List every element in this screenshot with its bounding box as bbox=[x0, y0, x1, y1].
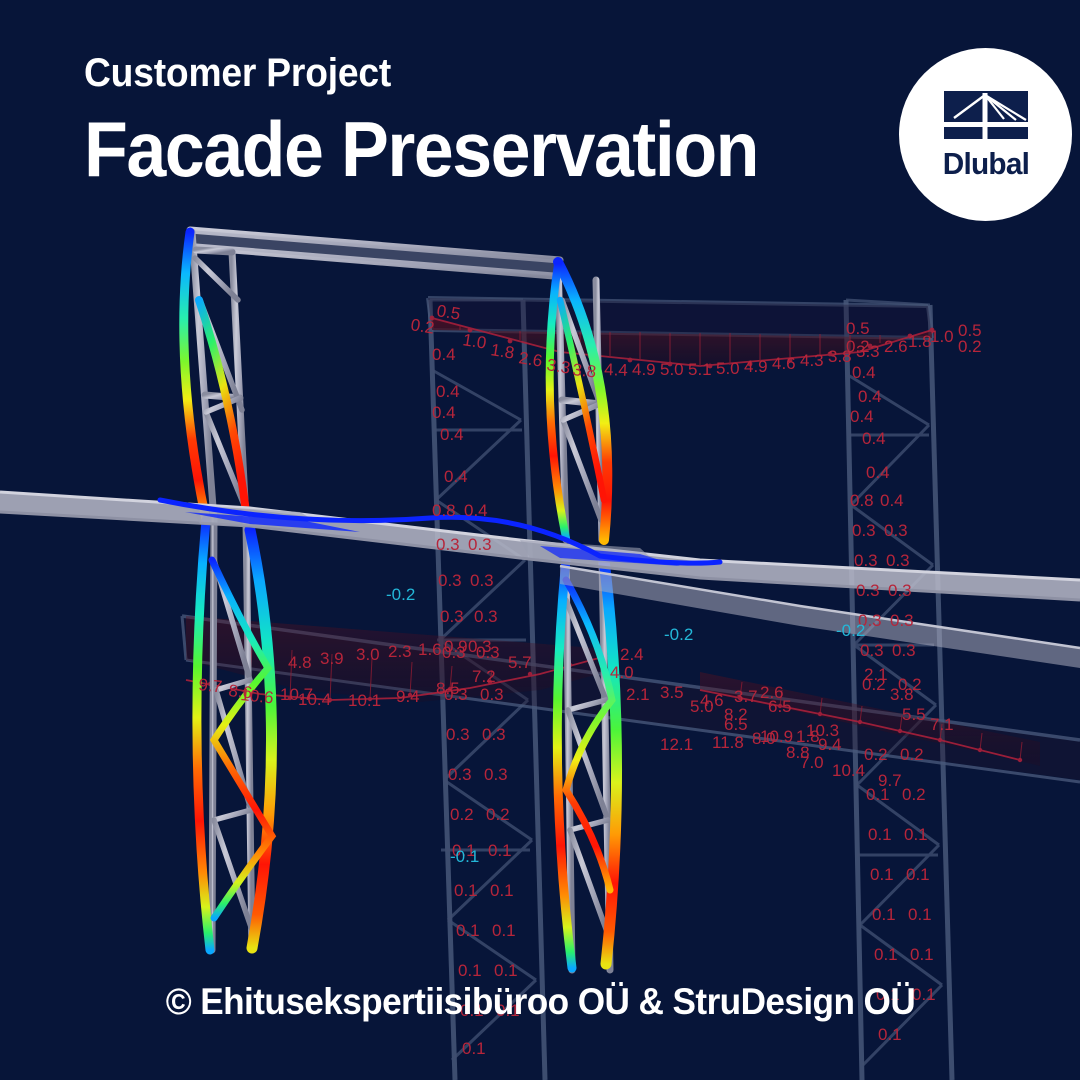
svg-text:7.0: 7.0 bbox=[800, 753, 824, 772]
svg-text:0.8: 0.8 bbox=[850, 491, 874, 510]
svg-text:0.3: 0.3 bbox=[884, 521, 908, 540]
svg-text:0.3: 0.3 bbox=[888, 581, 912, 600]
svg-text:0.2: 0.2 bbox=[864, 745, 888, 764]
svg-text:9.7: 9.7 bbox=[198, 675, 223, 696]
svg-text:-0.2: -0.2 bbox=[386, 585, 415, 604]
svg-text:2.1: 2.1 bbox=[864, 665, 888, 684]
svg-text:5.1: 5.1 bbox=[688, 360, 712, 379]
svg-text:9.4: 9.4 bbox=[396, 687, 420, 706]
svg-text:0.4: 0.4 bbox=[850, 407, 874, 426]
svg-text:1.0: 1.0 bbox=[930, 327, 954, 346]
svg-text:0.2: 0.2 bbox=[900, 745, 924, 764]
dlubal-logo-badge[interactable]: Dlubal bbox=[899, 48, 1072, 221]
svg-text:0.3: 0.3 bbox=[474, 607, 498, 626]
svg-text:0.1: 0.1 bbox=[492, 921, 516, 940]
poster-canvas: 0.5 0.2 1.0 1.8 2.6 3.3 3.8 4.4 4.9 5.0 … bbox=[0, 0, 1080, 1080]
svg-text:1.8: 1.8 bbox=[489, 340, 515, 362]
bridge-truss-icon bbox=[944, 91, 1028, 143]
svg-text:1.8: 1.8 bbox=[908, 332, 932, 351]
svg-text:7.2: 7.2 bbox=[472, 667, 496, 686]
svg-text:4.6: 4.6 bbox=[700, 691, 724, 710]
svg-text:0.4: 0.4 bbox=[880, 491, 904, 510]
svg-text:1.6: 1.6 bbox=[418, 640, 442, 659]
svg-text:-0.1: -0.1 bbox=[450, 847, 479, 866]
svg-text:0.3: 0.3 bbox=[440, 607, 464, 626]
svg-text:4.0: 4.0 bbox=[610, 663, 634, 682]
svg-text:0.1: 0.1 bbox=[878, 1025, 902, 1044]
svg-text:0.3: 0.3 bbox=[448, 765, 472, 784]
svg-text:0.1: 0.1 bbox=[874, 945, 898, 964]
svg-text:0.1: 0.1 bbox=[490, 881, 514, 900]
svg-text:2.6: 2.6 bbox=[517, 348, 543, 370]
svg-text:10.4: 10.4 bbox=[298, 690, 331, 709]
svg-text:4.4: 4.4 bbox=[604, 360, 628, 380]
svg-text:0.1: 0.1 bbox=[454, 881, 478, 900]
kicker-text: Customer Project bbox=[84, 53, 391, 93]
svg-text:0.9: 0.9 bbox=[444, 637, 468, 656]
svg-text:0.4: 0.4 bbox=[432, 403, 456, 422]
svg-text:10.9: 10.9 bbox=[760, 727, 793, 746]
svg-text:5.0: 5.0 bbox=[660, 360, 684, 379]
svg-text:0.1: 0.1 bbox=[908, 905, 932, 924]
svg-text:2.4: 2.4 bbox=[620, 645, 644, 664]
svg-text:0.3: 0.3 bbox=[852, 521, 876, 540]
svg-text:0.4: 0.4 bbox=[852, 363, 876, 382]
credit-line: © Ehitusekspertiisibüroo OÜ & StruDesign… bbox=[0, 983, 1080, 1020]
svg-text:0.3: 0.3 bbox=[892, 641, 916, 660]
svg-text:3.7: 3.7 bbox=[734, 687, 758, 706]
svg-text:10.6: 10.6 bbox=[240, 685, 275, 707]
svg-text:3.8: 3.8 bbox=[890, 685, 914, 704]
svg-text:0.1: 0.1 bbox=[488, 841, 512, 860]
svg-text:0.4: 0.4 bbox=[444, 467, 468, 486]
svg-text:5.0: 5.0 bbox=[716, 359, 740, 378]
svg-text:0.2: 0.2 bbox=[450, 805, 474, 824]
svg-text:0.4: 0.4 bbox=[866, 463, 890, 482]
svg-text:0.3: 0.3 bbox=[470, 571, 494, 590]
svg-text:0.3: 0.3 bbox=[446, 725, 470, 744]
svg-text:12.1: 12.1 bbox=[660, 735, 693, 754]
svg-text:0.3: 0.3 bbox=[468, 637, 492, 656]
svg-text:2.6: 2.6 bbox=[760, 683, 784, 702]
svg-text:-0.2: -0.2 bbox=[664, 625, 693, 644]
svg-text:0.5: 0.5 bbox=[846, 319, 870, 338]
svg-text:-0.2: -0.2 bbox=[836, 621, 865, 640]
svg-text:0.3: 0.3 bbox=[484, 765, 508, 784]
svg-text:0.1: 0.1 bbox=[462, 1039, 486, 1058]
svg-text:4.8: 4.8 bbox=[288, 653, 312, 672]
svg-text:3.8: 3.8 bbox=[572, 360, 597, 381]
svg-text:0.1: 0.1 bbox=[868, 825, 892, 844]
svg-text:0.3: 0.3 bbox=[480, 685, 504, 704]
svg-text:0.4: 0.4 bbox=[440, 425, 464, 444]
svg-text:0.4: 0.4 bbox=[862, 429, 886, 448]
svg-text:10.1: 10.1 bbox=[348, 691, 381, 710]
svg-text:0.2: 0.2 bbox=[409, 315, 435, 337]
svg-text:0.2: 0.2 bbox=[902, 785, 926, 804]
svg-text:0.1: 0.1 bbox=[870, 865, 894, 884]
svg-text:0.1: 0.1 bbox=[904, 825, 928, 844]
svg-text:0.3: 0.3 bbox=[856, 581, 880, 600]
svg-text:2.6: 2.6 bbox=[884, 337, 908, 356]
dlubal-wordmark: Dlubal bbox=[942, 148, 1028, 179]
svg-text:0.4: 0.4 bbox=[432, 345, 456, 364]
svg-text:0.3: 0.3 bbox=[436, 535, 460, 554]
svg-text:8.5: 8.5 bbox=[436, 679, 460, 698]
svg-text:3.0: 3.0 bbox=[356, 645, 380, 664]
svg-text:0.4: 0.4 bbox=[464, 501, 488, 520]
svg-text:0.8: 0.8 bbox=[432, 501, 456, 520]
svg-text:7.1: 7.1 bbox=[930, 715, 954, 734]
svg-text:0.2: 0.2 bbox=[486, 805, 510, 824]
svg-text:0.1: 0.1 bbox=[906, 865, 930, 884]
svg-text:4.9: 4.9 bbox=[744, 357, 768, 376]
svg-text:11.8: 11.8 bbox=[712, 733, 744, 752]
svg-text:0.2: 0.2 bbox=[958, 337, 982, 356]
svg-text:0.3: 0.3 bbox=[482, 725, 506, 744]
svg-text:0.1: 0.1 bbox=[494, 961, 518, 980]
svg-text:0.3: 0.3 bbox=[860, 641, 884, 660]
svg-text:4.6: 4.6 bbox=[772, 354, 796, 373]
svg-text:0.1: 0.1 bbox=[458, 961, 482, 980]
credit-text: © Ehitusekspertiisibüroo OÜ & StruDesign… bbox=[165, 983, 914, 1020]
svg-text:4.9: 4.9 bbox=[632, 360, 656, 379]
svg-text:2.1: 2.1 bbox=[626, 685, 650, 704]
svg-text:0.3: 0.3 bbox=[890, 611, 914, 630]
svg-text:5.5: 5.5 bbox=[902, 705, 926, 724]
svg-text:0.4: 0.4 bbox=[858, 387, 882, 406]
svg-text:5.7: 5.7 bbox=[508, 653, 532, 672]
svg-text:0.1: 0.1 bbox=[456, 921, 480, 940]
svg-text:1.8: 1.8 bbox=[796, 727, 820, 746]
svg-text:0.3: 0.3 bbox=[886, 551, 910, 570]
page-title: Facade Preservation bbox=[84, 110, 758, 188]
svg-text:0.3: 0.3 bbox=[468, 535, 492, 554]
svg-text:0.5: 0.5 bbox=[435, 301, 461, 323]
svg-text:0.2: 0.2 bbox=[846, 337, 870, 356]
svg-text:4.3: 4.3 bbox=[800, 351, 824, 370]
svg-text:10.4: 10.4 bbox=[832, 761, 865, 780]
svg-text:8.2: 8.2 bbox=[724, 705, 748, 724]
svg-text:3.9: 3.9 bbox=[320, 649, 344, 668]
svg-text:1.0: 1.0 bbox=[461, 330, 487, 352]
svg-text:9.7: 9.7 bbox=[878, 771, 902, 790]
svg-text:3.3: 3.3 bbox=[545, 355, 571, 377]
svg-text:3.5: 3.5 bbox=[660, 683, 684, 702]
svg-text:0.3: 0.3 bbox=[438, 571, 462, 590]
svg-text:0.4: 0.4 bbox=[436, 382, 460, 401]
svg-text:0.3: 0.3 bbox=[854, 551, 878, 570]
svg-text:2.3: 2.3 bbox=[388, 642, 412, 661]
svg-text:0.1: 0.1 bbox=[872, 905, 896, 924]
svg-text:0.1: 0.1 bbox=[910, 945, 934, 964]
